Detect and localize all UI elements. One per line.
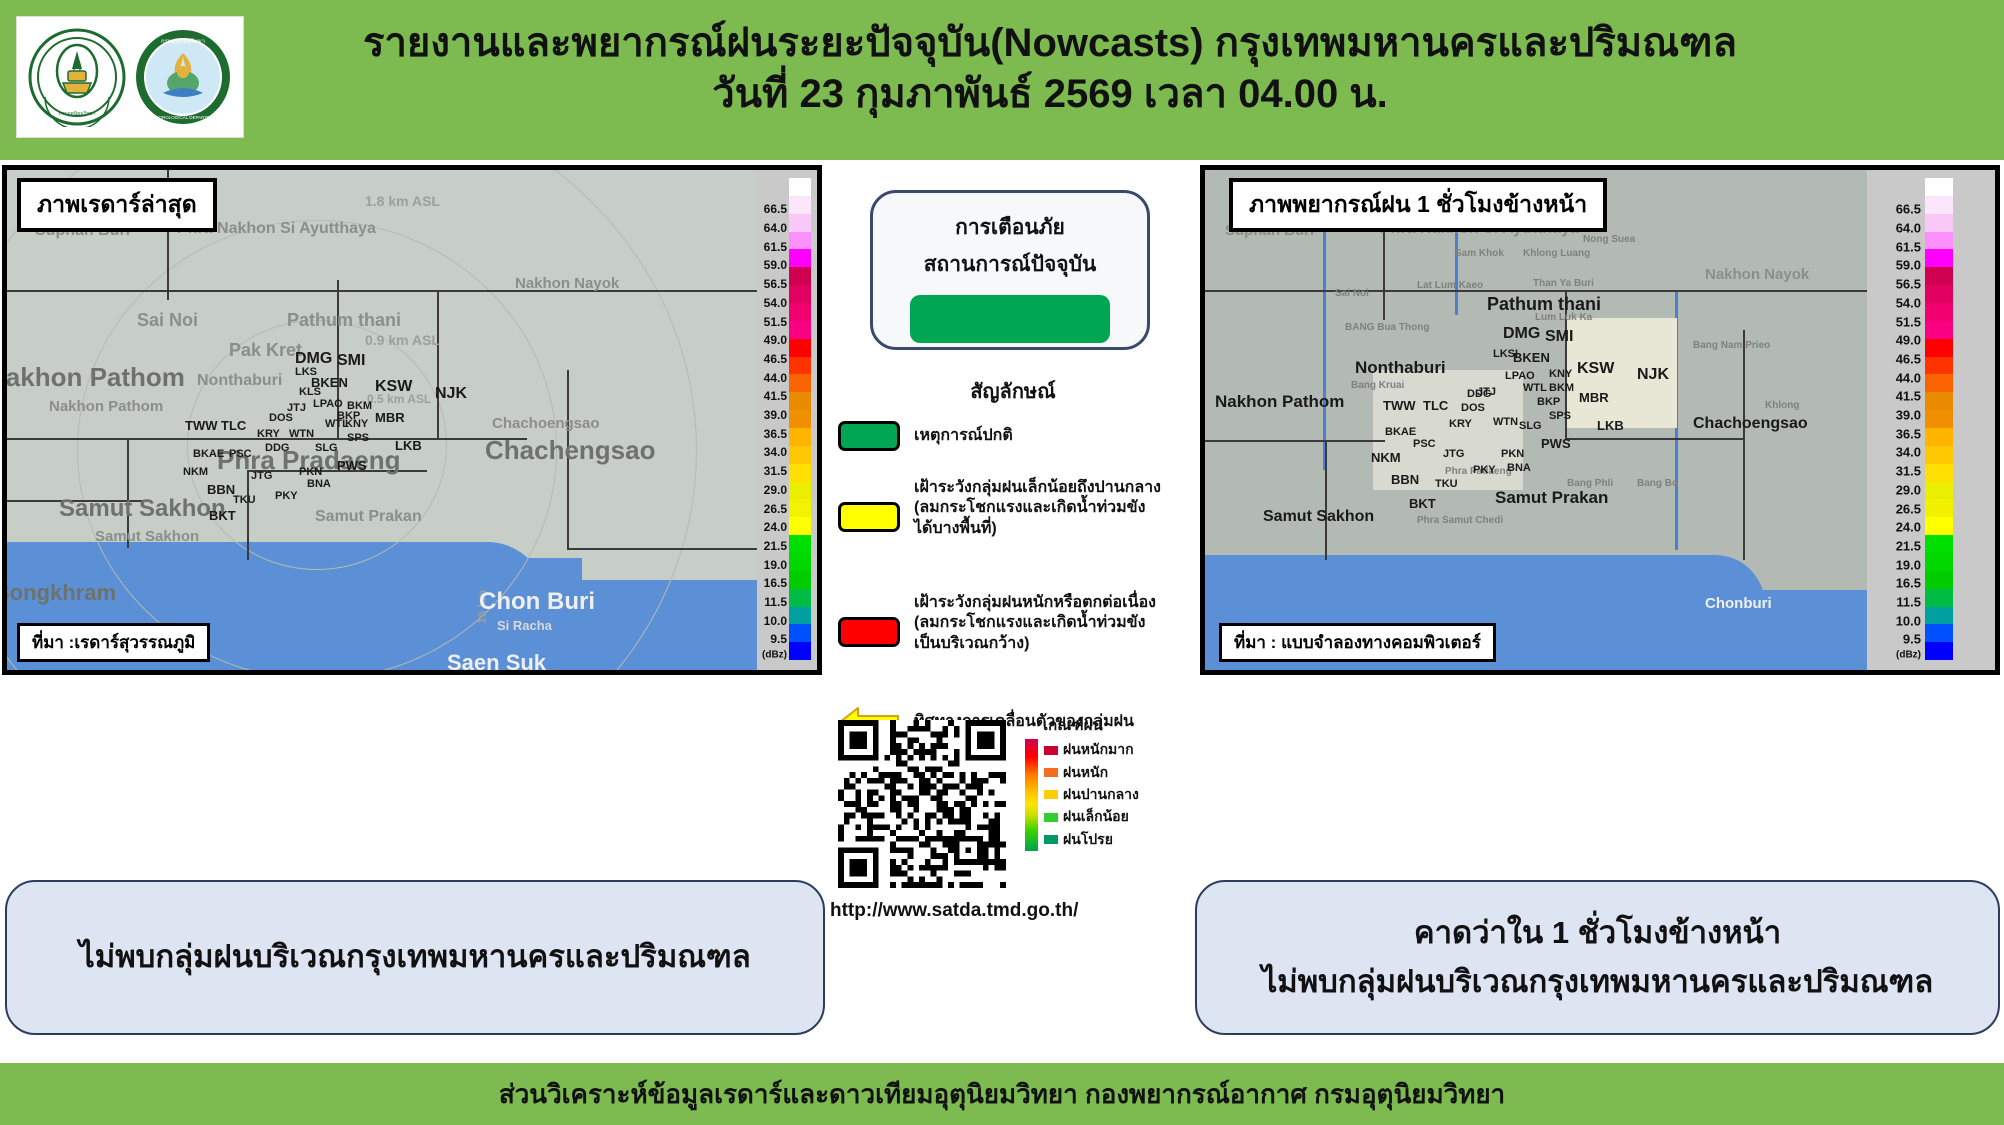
rain-item-light: ฝนเล็กน้อย [1044, 806, 1139, 828]
district-code-NKM: NKM [1371, 450, 1401, 465]
colorbar-segment-18 [1925, 499, 1953, 517]
colorbar-segment-6 [1925, 285, 1953, 303]
radar-colorbar: 66.564.061.559.056.554.051.549.046.544.0… [757, 170, 817, 670]
district-code-TWW: TWW [185, 418, 217, 433]
colorbar-tick-36.5: 36.5 [1896, 426, 1921, 441]
colorbar-tick-61.5: 61.5 [764, 240, 787, 254]
district-code-SLG: SLG [315, 442, 338, 454]
district-code-DMG: DMG [1503, 325, 1540, 343]
colorbar-tick-10: 10.0 [764, 614, 787, 628]
district-code-BKAE: BKAE [1385, 426, 1416, 438]
forecast-panel-title: ภาพพยากรณ์ฝน 1 ชั่วโมงข้างหน้า [1229, 178, 1607, 232]
rain-chip-drizzle [1044, 835, 1058, 844]
place-label-nong-suea: Nong Suea [1583, 234, 1635, 245]
title-line-1: รายงานและพยากรณ์ฝนระยะปัจจุบัน(Nowcasts)… [300, 18, 1800, 68]
rain-label-drizzle: ฝนโปรย [1063, 829, 1113, 851]
legend-label-light-moderate: เฝ้าระวังกลุ่มฝนเล็กน้อยถึงปานกลาง (ลมกร… [914, 478, 1161, 539]
colorbar-segment-26 [1925, 642, 1953, 660]
colorbar-segment-6 [789, 285, 811, 303]
colorbar-segment-15 [789, 446, 811, 464]
district-code-NJK: NJK [435, 385, 467, 403]
colorbar-segment-2 [1925, 214, 1953, 232]
colorbar-tick-16.5: 16.5 [1896, 576, 1921, 591]
colorbar-tick-56.5: 56.5 [764, 277, 787, 291]
province-border [1205, 290, 1867, 292]
colorbar-segment-4 [789, 249, 811, 267]
place-label-bang-phli: Bang Phli [1567, 478, 1613, 489]
district-code-BKP: BKP [337, 410, 360, 422]
colorbar-tick-11.5: 11.5 [1896, 595, 1921, 610]
radar-latest-panel[interactable]: ภาพเรดาร์ล่าสุด ที่มา :เรดาร์สุวรรณภูมิ … [2, 165, 822, 675]
province-border [1383, 230, 1385, 320]
legend-row-normal: เหตุการณ์ปกติ [838, 421, 1196, 451]
place-label-chachoengsao: Chachoengsao [1693, 415, 1808, 433]
colorbar-segment-0 [1925, 178, 1953, 196]
district-code-SPS: SPS [1549, 410, 1571, 422]
colorbar-tick-51.5: 51.5 [764, 315, 787, 329]
colorbar-segment-8 [789, 321, 811, 339]
district-code-KSW: KSW [375, 378, 412, 396]
alert-title-line-2: สถานการณ์ปัจจุบัน [873, 248, 1147, 281]
radar-colorbar-ticks: 66.564.061.559.056.554.051.549.046.544.0… [751, 178, 787, 660]
colorbar-tick-46.5: 46.5 [764, 352, 787, 366]
colorbar-segment-22 [789, 571, 811, 589]
logo-box: กรมอุตุนิยมวิทยา กรมอุตุนิยมวิทยา METEOR… [16, 16, 244, 138]
district-code-JTG: JTG [251, 470, 272, 482]
colorbar-tick-21.5: 21.5 [764, 539, 787, 553]
district-code-WTL: WTL [1523, 382, 1547, 394]
page-title: รายงานและพยากรณ์ฝนระยะปัจจุบัน(Nowcasts)… [300, 18, 1800, 120]
district-code-BKEN: BKEN [1513, 350, 1550, 365]
colorbar-tick-31.5: 31.5 [764, 464, 787, 478]
colorbar-tick-66.5: 66.5 [1896, 202, 1921, 217]
colorbar-segment-17 [1925, 482, 1953, 500]
alert-status-indicator [910, 295, 1110, 343]
district-code-KRY: KRY [257, 428, 280, 440]
place-label-pathum-thani: Pathum thani [1487, 294, 1601, 315]
colorbar-segment-9 [1925, 339, 1953, 357]
colorbar-segment-1 [1925, 196, 1953, 214]
place-label-nakhon-nayok: Nakhon Nayok [1705, 266, 1809, 283]
colorbar-tick-61.5: 61.5 [1896, 239, 1921, 254]
district-code-TKU: TKU [233, 494, 256, 506]
colorbar-tick-56.5: 56.5 [1896, 277, 1921, 292]
colorbar-segment-5 [789, 267, 811, 285]
colorbar-tick-24: 24.0 [764, 520, 787, 534]
qr-code-icon[interactable] [838, 720, 1006, 888]
page-footer: ส่วนวิเคราะห์ข้อมูลเรดาร์และดาวเทียมอุตุ… [0, 1063, 2004, 1125]
district-code-SMI: SMI [337, 352, 365, 370]
colorbar-segment-17 [789, 482, 811, 500]
colorbar-unit-label: (dBz) [1896, 650, 1921, 661]
colorbar-tick-46.5: 46.5 [1896, 351, 1921, 366]
colorbar-segment-19 [1925, 517, 1953, 535]
district-code-PSC: PSC [1413, 438, 1436, 450]
district-code-BKAE: BKAE [193, 448, 224, 460]
symbols-heading: สัญลักษณ์ [830, 375, 1196, 407]
forecast-colorbar-strip [1925, 178, 1953, 660]
colorbar-tick-64: 64.0 [1896, 221, 1921, 236]
colorbar-tick-44: 44.0 [764, 371, 787, 385]
forecast-message-box: คาดว่าใน 1 ชั่วโมงข้างหน้า ไม่พบกลุ่มฝนบ… [1195, 880, 2000, 1035]
rain-scale-title: เกณฑ์ฝน [1043, 713, 1200, 737]
district-code-BBN: BBN [1391, 472, 1419, 487]
colorbar-segment-2 [789, 214, 811, 232]
province-border [7, 500, 147, 502]
colorbar-segment-9 [789, 339, 811, 357]
place-label-bang-nam-prieo: Bang Nam Prieo [1693, 340, 1770, 351]
district-code-SLG: SLG [1519, 420, 1542, 432]
rain-chip-light [1044, 813, 1058, 822]
legend-label-heavy: เฝ้าระวังกลุ่มฝนหนักหรือตกต่อเนื่อง (ลมก… [914, 593, 1156, 654]
district-code-PKY: PKY [275, 490, 298, 502]
colorbar-segment-15 [1925, 446, 1953, 464]
colorbar-segment-25 [1925, 624, 1953, 642]
colorbar-tick-44: 44.0 [1896, 370, 1921, 385]
district-code-PKY: PKY [1473, 464, 1496, 476]
altitude-label-09: 0.9 km ASL [365, 332, 440, 348]
colorbar-tick-29: 29.0 [1896, 482, 1921, 497]
rain-label-light: ฝนเล็กน้อย [1063, 806, 1129, 828]
rain-chip-moderate [1044, 790, 1058, 799]
colorbar-segment-19 [789, 517, 811, 535]
colorbar-tick-26.5: 26.5 [764, 502, 787, 516]
colorbar-segment-14 [1925, 428, 1953, 446]
rain-item-moderate: ฝนปานกลาง [1044, 784, 1139, 806]
colorbar-tick-66.5: 66.5 [764, 202, 787, 216]
province-border [1205, 440, 1385, 442]
district-code-DDG: DDG [265, 442, 289, 454]
colorbar-segment-20 [789, 535, 811, 553]
district-code-BNA: BNA [307, 478, 331, 490]
alert-title-line-1: การเตือนภัย [873, 211, 1147, 244]
colorbar-segment-10 [789, 357, 811, 375]
colorbar-tick-21.5: 21.5 [1896, 538, 1921, 553]
district-code-NKM: NKM [183, 466, 208, 478]
colorbar-tick-49: 49.0 [1896, 333, 1921, 348]
district-code-WTN: WTN [1493, 416, 1518, 428]
footer-text: ส่วนวิเคราะห์ข้อมูลเรดาร์และดาวเทียมอุตุ… [499, 1074, 1505, 1115]
forecast-colorbar: 66.564.061.559.056.554.051.549.046.544.0… [1867, 170, 1995, 670]
place-label-bang-bua-thong: BANG Bua Thong [1345, 322, 1429, 333]
district-code-LPAO: LPAO [313, 398, 343, 410]
colorbar-tick-19: 19.0 [1896, 557, 1921, 572]
place-label-bang-bo: Bang Bo [1637, 478, 1678, 489]
rain-label-heavy: ฝนหนัก [1063, 762, 1108, 784]
current-condition-message-box: ไม่พบกลุ่มฝนบริเวณกรุงเทพมหานครและปริมณฑ… [5, 880, 825, 1035]
district-code-KLS: KLS [299, 386, 321, 398]
province-border [7, 290, 757, 292]
district-code-SPS: SPS [347, 432, 369, 444]
altitude-label-18: 1.8 km ASL [365, 193, 440, 209]
colorbar-segment-16 [1925, 464, 1953, 482]
colorbar-tick-59: 59.0 [764, 258, 787, 272]
colorbar-segment-16 [789, 464, 811, 482]
place-label-khlong: Khlong [1765, 400, 1799, 411]
colorbar-segment-4 [1925, 249, 1953, 267]
place-label-samut-sakhon: Samut Sakhon [1263, 508, 1374, 526]
colorbar-tick-36.5: 36.5 [764, 427, 787, 441]
colorbar-tick-16.5: 16.5 [764, 576, 787, 590]
colorbar-segment-23 [789, 589, 811, 607]
page-header: กรมอุตุนิยมวิทยา กรมอุตุนิยมวิทยา METEOR… [0, 0, 2004, 160]
district-code-BKT: BKT [209, 508, 236, 523]
colorbar-tick-39: 39.0 [764, 408, 787, 422]
province-border [437, 290, 439, 440]
colorbar-tick-26.5: 26.5 [1896, 501, 1921, 516]
title-line-2: วันที่ 23 กุมภาพันธ์ 2569 เวลา 04.00 น. [300, 68, 1800, 120]
district-code-BKM: BKM [1549, 382, 1574, 394]
colorbar-segment-0 [789, 178, 811, 196]
district-code-TKU: TKU [1435, 478, 1458, 490]
rain-chip-very-heavy [1044, 746, 1058, 755]
colorbar-tick-39: 39.0 [1896, 408, 1921, 423]
colorbar-segment-13 [1925, 410, 1953, 428]
radar-panel-title: ภาพเรดาร์ล่าสุด [17, 178, 217, 232]
colorbar-tick-9.5: 9.5 [1903, 632, 1921, 647]
forecast-panel-source: ที่มา : แบบจำลองทางคอมพิวเตอร์ [1219, 623, 1496, 662]
district-code-LKB: LKB [1597, 418, 1624, 433]
colorbar-segment-20 [1925, 535, 1953, 553]
province-border [247, 470, 249, 560]
colorbar-segment-3 [789, 232, 811, 250]
colorbar-segment-24 [789, 607, 811, 625]
district-code-LKB: LKB [395, 438, 422, 453]
svg-text:กรมอุตุนิยมวิทยา: กรมอุตุนิยมวิทยา [59, 110, 96, 117]
forecast-message-line-1: คาดว่าใน 1 ชั่วโมงข้างหน้า [1414, 909, 1781, 957]
district-code-TLC: TLC [221, 418, 246, 433]
current-condition-message-line: ไม่พบกลุ่มฝนบริเวณกรุงเทพมหานครและปริมณฑ… [79, 933, 751, 981]
colorbar-segment-11 [1925, 374, 1953, 392]
district-code-MBR: MBR [375, 410, 405, 425]
legend-row-light-moderate: เฝ้าระวังกลุ่มฝนเล็กน้อยถึงปานกลาง (ลมกร… [838, 478, 1196, 539]
place-label-phra-samut-chedi: Phra Samut Chedi [1417, 515, 1503, 526]
colorbar-tick-41.5: 41.5 [764, 389, 787, 403]
district-code-DDG: DDG [1467, 388, 1491, 400]
colorbar-segment-18 [789, 499, 811, 517]
rain-label-moderate: ฝนปานกลาง [1063, 784, 1139, 806]
colorbar-segment-10 [1925, 357, 1953, 375]
swatch-normal-condition [838, 421, 900, 451]
forecast-colorbar-ticks: 66.564.061.559.056.554.051.549.046.544.0… [1869, 178, 1921, 660]
colorbar-tick-10: 10.0 [1896, 613, 1921, 628]
district-code-PWS: PWS [1541, 436, 1571, 451]
svg-text:METEOROLOGICAL DEPARTMENT: METEOROLOGICAL DEPARTMENT [146, 115, 220, 120]
district-code-JTG: JTG [1443, 448, 1464, 460]
district-code-PWS: PWS [337, 458, 367, 473]
center-legend-column: การเตือนภัย สถานการณ์ปัจจุบัน สัญลักษณ์ … [830, 165, 1196, 1045]
colorbar-tick-19: 19.0 [764, 558, 787, 572]
rain-label-very-heavy: ฝนหนักมาก [1063, 739, 1134, 761]
district-code-WTN: WTN [289, 428, 314, 440]
colorbar-segment-12 [789, 392, 811, 410]
rain-item-heavy: ฝนหนัก [1044, 761, 1139, 783]
district-code-TLC: TLC [1423, 398, 1448, 413]
colorbar-tick-54: 54.0 [1896, 295, 1921, 310]
province-border [1565, 438, 1745, 440]
colorbar-unit-label: (dBz) [762, 650, 787, 661]
colorbar-segment-11 [789, 374, 811, 392]
district-code-KNY: KNY [1549, 368, 1572, 380]
colorbar-tick-54: 54.0 [764, 296, 787, 310]
forecast-map-canvas[interactable]: Suphan Buri Phra Nakhon Si Ayutthaya Non… [1205, 170, 1867, 670]
district-code-BKP: BKP [1537, 396, 1560, 408]
district-code-PSC: PSC [229, 448, 252, 460]
district-code-PKN: PKN [1501, 448, 1524, 460]
colorbar-tick-49: 49.0 [764, 333, 787, 347]
district-code-LKSI: LKS [295, 366, 317, 378]
rain-item-very-heavy: ฝนหนักมาก [1044, 739, 1139, 761]
colorbar-segment-3 [1925, 232, 1953, 250]
colorbar-segment-12 [1925, 392, 1953, 410]
colorbar-tick-51.5: 51.5 [1896, 314, 1921, 329]
radar-colorbar-strip [789, 178, 811, 660]
district-code-BNA: BNA [1507, 462, 1531, 474]
colorbar-segment-22 [1925, 571, 1953, 589]
district-code-DOS: DOS [1461, 402, 1485, 414]
rain-item-drizzle: ฝนโปรย [1044, 829, 1139, 851]
colorbar-tick-34: 34.0 [1896, 445, 1921, 460]
province-border [1743, 330, 1745, 560]
colorbar-tick-29: 29.0 [764, 483, 787, 497]
colorbar-segment-21 [789, 553, 811, 571]
khlong [1455, 225, 1458, 315]
colorbar-segment-21 [1925, 553, 1953, 571]
colorbar-segment-8 [1925, 321, 1953, 339]
swatch-light-moderate-warning [838, 502, 900, 532]
radar-panel-source: ที่มา :เรดาร์สุวรรณภูมิ [17, 623, 210, 662]
district-code-DOS: DOS [269, 412, 293, 424]
radar-map-canvas[interactable]: 1.8 km ASL 0.9 km ASL 0.5 km ASL 16 km S… [7, 170, 757, 670]
province-border [1325, 440, 1327, 560]
colorbar-segment-7 [1925, 303, 1953, 321]
royal-irrigation-seal-icon: กรมอุตุนิยมวิทยา [27, 27, 127, 127]
colorbar-tick-9.5: 9.5 [770, 632, 787, 646]
legend-row-heavy: เฝ้าระวังกลุ่มฝนหนักหรือตกต่อเนื่อง (ลมก… [838, 593, 1196, 654]
colorbar-tick-11.5: 11.5 [764, 595, 787, 609]
svg-text:กรมอุตุนิยมวิทยา: กรมอุตุนิยมวิทยา [161, 38, 205, 45]
district-code-BBN: BBN [207, 482, 235, 497]
rain-forecast-panel[interactable]: ภาพพยากรณ์ฝน 1 ชั่วโมงข้างหน้า ที่มา : แ… [1200, 165, 2000, 675]
rain-intensity-scale: เกณฑ์ฝน ฝนหนักมาก ฝนหนัก ฝนปานกลาง [1025, 713, 1200, 851]
district-code-TWW: TWW [1383, 398, 1415, 413]
place-label-sam-khok: Sam Khok [1455, 248, 1504, 259]
province-border [127, 438, 129, 548]
colorbar-tick-64: 64.0 [764, 221, 787, 235]
colorbar-tick-41.5: 41.5 [1896, 389, 1921, 404]
forecast-message-line-2: ไม่พบกลุ่มฝนบริเวณกรุงเทพมหานครและปริมณฑ… [1262, 958, 1934, 1006]
district-code-MBR: MBR [1579, 390, 1609, 405]
colorbar-segment-24 [1925, 607, 1953, 625]
district-code-KSW: KSW [1577, 360, 1614, 378]
colorbar-segment-5 [1925, 267, 1953, 285]
colorbar-segment-25 [789, 624, 811, 642]
colorbar-tick-24: 24.0 [1896, 520, 1921, 535]
legend-label-normal: เหตุการณ์ปกติ [914, 426, 1013, 446]
district-code-PKN: PKN [299, 466, 322, 478]
site-url-link[interactable]: http://www.satda.tmd.go.th/ [830, 900, 1130, 922]
district-code-SMI: SMI [1545, 328, 1573, 346]
province-border [567, 548, 757, 550]
place-label-than-ya-buri: Than Ya Buri [1533, 278, 1594, 289]
colorbar-segment-13 [789, 410, 811, 428]
colorbar-segment-23 [1925, 589, 1953, 607]
colorbar-tick-34: 34.0 [764, 445, 787, 459]
place-label-samut-prakan: Samut Prakan [1495, 488, 1608, 508]
district-code-KRY: KRY [1449, 418, 1472, 430]
place-label-khlong-luang: Khlong Luang [1523, 248, 1590, 259]
district-code-NJK: NJK [1637, 366, 1669, 384]
rain-scale-gradient [1025, 739, 1038, 851]
province-border [567, 370, 569, 550]
rain-chip-heavy [1044, 768, 1058, 777]
colorbar-segment-1 [789, 196, 811, 214]
colorbar-segment-14 [789, 428, 811, 446]
colorbar-segment-7 [789, 303, 811, 321]
range-ring-label-16km: 16 km [475, 590, 489, 624]
swatch-heavy-warning [838, 617, 900, 647]
gulf-of-thailand-water-2 [1705, 590, 1867, 670]
thai-meteorological-department-seal-icon: กรมอุตุนิยมวิทยา METEOROLOGICAL DEPARTME… [133, 27, 233, 127]
current-alert-box[interactable]: การเตือนภัย สถานการณ์ปัจจุบัน [870, 190, 1150, 350]
colorbar-tick-31.5: 31.5 [1896, 464, 1921, 479]
district-code-LPAO: LPAO [1505, 370, 1535, 382]
colorbar-segment-26 [789, 642, 811, 660]
district-code-BKT: BKT [1409, 496, 1436, 511]
colorbar-tick-59: 59.0 [1896, 258, 1921, 273]
